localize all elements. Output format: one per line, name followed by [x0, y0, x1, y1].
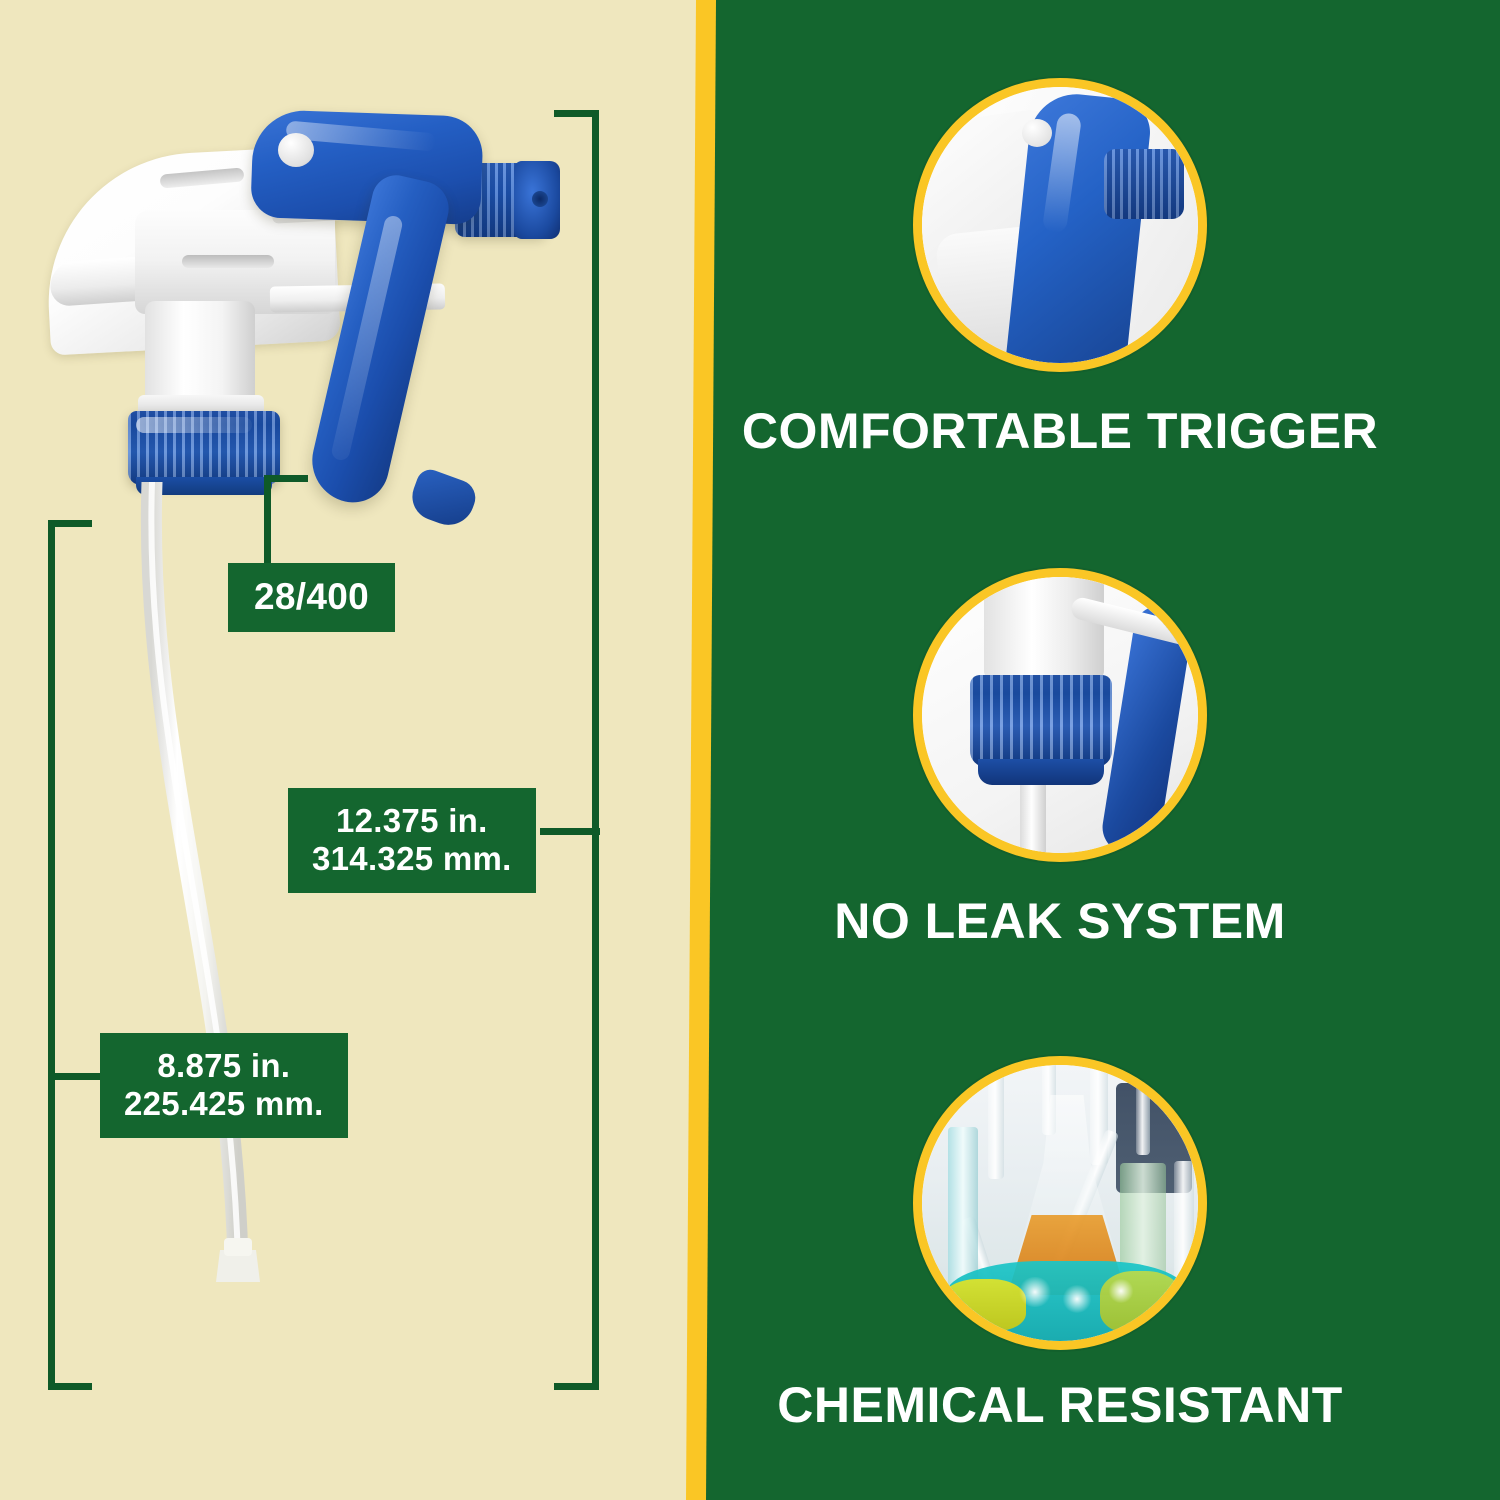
- sprayer-head-assembly: [40, 105, 560, 535]
- feature-image-lab-glassware: [913, 1056, 1207, 1350]
- lab-glass-rod-1: [988, 1065, 1004, 1179]
- infographic-stage: 28/400 12.375 in. 314.325 mm. 8.875 in. …: [0, 0, 1500, 1500]
- sprayer-trigger-pivot-pin: [278, 133, 314, 167]
- label-overall-length: 12.375 in. 314.325 mm.: [288, 788, 536, 893]
- bracket-overall-bottom-tick: [554, 1383, 599, 1390]
- label-tube-length-inches: 8.875 in.: [124, 1047, 324, 1085]
- feature-title-no-leak-system: NO LEAK SYSTEM: [620, 896, 1500, 946]
- collar-closeup-collar-base: [978, 759, 1104, 785]
- trigger-closeup-knob-ribs: [1104, 149, 1184, 219]
- leader-thread-vertical: [264, 475, 271, 567]
- feature-no-leak-system: NO LEAK SYSTEM: [620, 568, 1500, 946]
- feature-image-collar-closeup: [913, 568, 1207, 862]
- leader-thread-horizontal: [264, 475, 308, 482]
- label-thread-size: 28/400: [228, 563, 395, 632]
- collar-closeup-blue-collar: [970, 675, 1112, 767]
- feature-title-chemical-resistant: CHEMICAL RESISTANT: [620, 1380, 1500, 1430]
- bracket-overall-vertical: [592, 110, 599, 1390]
- feature-image-trigger-closeup: [913, 78, 1207, 372]
- lab-yellow-liquid-left: [940, 1279, 1026, 1331]
- feature-chemical-resistant: CHEMICAL RESISTANT: [620, 1056, 1500, 1430]
- leader-tube-connector: [48, 1073, 106, 1080]
- bracket-overall-top-tick: [554, 110, 599, 117]
- label-overall-length-inches: 12.375 in.: [312, 802, 512, 840]
- sprayer-blue-collar-cap: [128, 411, 280, 485]
- collar-closeup-ribs: [970, 675, 1112, 767]
- feature-list: COMFORTABLE TRIGGER NO LEAK SYSTEM: [620, 0, 1500, 1500]
- collar-closeup-white-neck: [984, 577, 1104, 679]
- trigger-closeup-nozzle-knob: [1104, 149, 1184, 219]
- lab-glassware-art: [922, 1065, 1198, 1341]
- dip-tube-tip-neck: [224, 1238, 252, 1256]
- leader-overall-connector: [540, 828, 600, 835]
- bracket-tube-vertical: [48, 520, 55, 1390]
- lab-glass-rod-4: [1136, 1065, 1150, 1155]
- bracket-overall-length: [540, 110, 600, 1390]
- lab-specular-highlight-2: [1062, 1285, 1092, 1313]
- sprayer-handle-tip: [406, 466, 481, 532]
- label-tube-length-mm: 225.425 mm.: [124, 1085, 324, 1123]
- trigger-closeup-art: [922, 87, 1198, 363]
- bracket-tube-bottom-tick: [48, 1383, 92, 1390]
- dip-tube-path: [151, 482, 238, 1262]
- trigger-closeup-pivot-pin: [1022, 119, 1052, 147]
- feature-title-comfortable-trigger: COMFORTABLE TRIGGER: [620, 406, 1500, 456]
- collar-closeup-art: [922, 577, 1198, 853]
- label-tube-length: 8.875 in. 225.425 mm.: [100, 1033, 348, 1138]
- lab-specular-highlight-1: [1018, 1277, 1052, 1307]
- bracket-tube-top-tick: [48, 520, 92, 527]
- lab-specular-highlight-3: [1108, 1279, 1134, 1303]
- bracket-tube-length: [40, 520, 100, 1390]
- collar-highlight: [136, 417, 252, 433]
- feature-comfortable-trigger: COMFORTABLE TRIGGER: [620, 78, 1500, 456]
- sprayer-barrel-slot-lower: [182, 255, 274, 268]
- label-overall-length-mm: 314.325 mm.: [312, 840, 512, 878]
